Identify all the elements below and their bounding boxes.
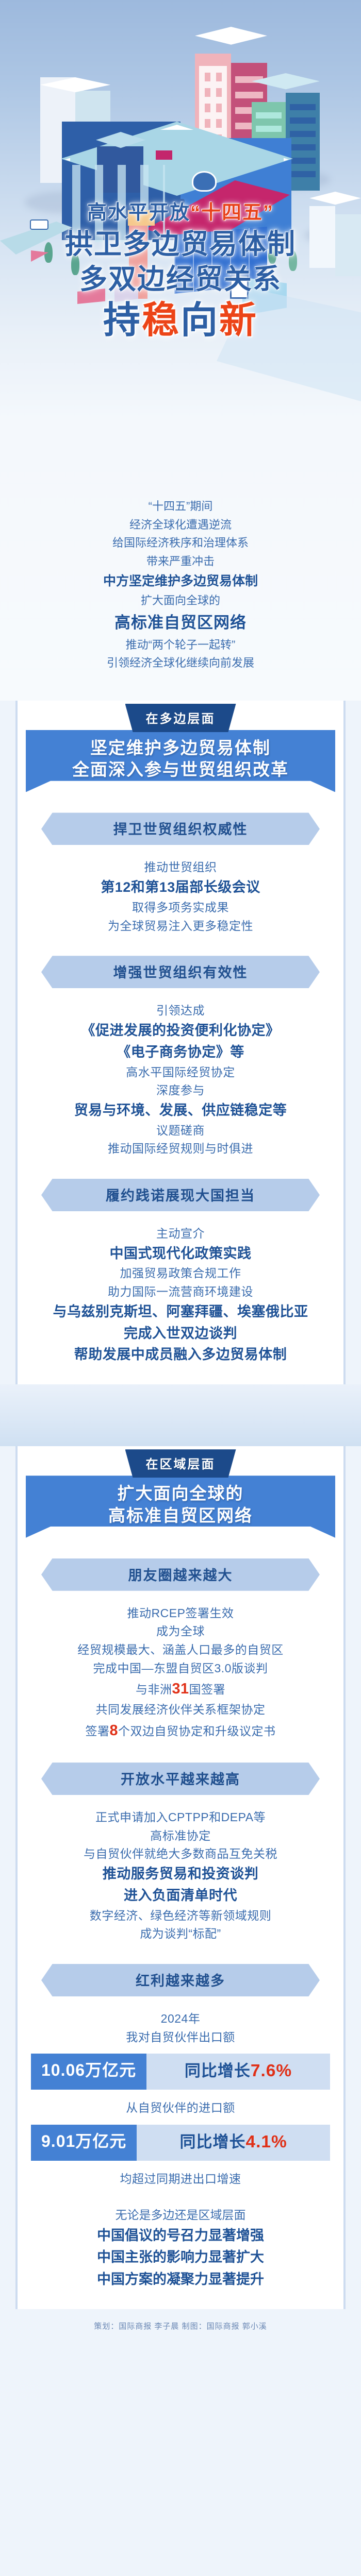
- title-char-0: 持: [103, 300, 142, 341]
- body-line: 《促进发展的投资便利化协定》: [18, 1020, 343, 1042]
- subsection-body: 正式申请加入CPTPP和DEPA等高标准协定与自贸伙伴就绝大多数商品互免关税推动…: [18, 1808, 343, 1943]
- section-tab-label: 在多边层面: [125, 704, 236, 732]
- subsection-body: 主动宣介中国式现代化政策实践加强贸易政策合规工作助力国际一流营商环境建设与乌兹别…: [18, 1225, 343, 1366]
- intro-line: 引领经济全球化继续向前发展: [0, 654, 361, 672]
- stat-compare-label: 同比增长: [185, 2062, 251, 2080]
- stat-value: 10.06万亿元: [31, 2054, 146, 2090]
- body-line: 取得多项务实成果: [18, 899, 343, 917]
- intro-line: 给国际经济秩序和治理体系: [0, 534, 361, 552]
- stat-compare-percent: 4.1%: [246, 2132, 287, 2151]
- body-line: 议题磋商: [18, 1122, 343, 1140]
- subsection-heading: 增强世贸组织有效性: [41, 956, 320, 988]
- body-line: 正式申请加入CPTPP和DEPA等: [18, 1808, 343, 1827]
- subsection-body: 2024年我对自贸伙伴出口额10.06万亿元同比增长7.6%从自贸伙伴的进口额9…: [18, 2010, 343, 2188]
- body-line: 完成中国—东盟自贸区3.0版谈判: [18, 1659, 343, 1678]
- body-line: 高水平国际经贸协定: [18, 1063, 343, 1082]
- section-banner-line: 坚定维护多边贸易体制: [31, 737, 330, 759]
- highlight-number: 8: [110, 1722, 119, 1739]
- body-line: 主动宣介: [18, 1225, 343, 1243]
- body-line: 贸易与环境、发展、供应链稳定等: [18, 1100, 343, 1122]
- closing-line: 中国方案的凝聚力显著提升: [18, 2268, 343, 2291]
- highlight-number: 31: [172, 1681, 189, 1697]
- subsection-heading: 捍卫世贸组织权威性: [41, 812, 320, 845]
- section-tab-label: 在区域层面: [125, 1449, 236, 1478]
- intro-line: 高标准自贸区网络: [0, 610, 361, 636]
- body-line: 与自贸伙伴就绝大多数商品互免关税: [18, 1845, 343, 1863]
- section-gap: [0, 1384, 361, 1446]
- body-line: 为全球贸易注入更多稳定性: [18, 917, 343, 936]
- body-line: 签署8个双边自贸协定和升级议定书: [18, 1719, 343, 1742]
- title-line-2: 拱卫多边贸易体制: [0, 228, 361, 261]
- closing-line: 中国倡议的号召力显著增强: [18, 2225, 343, 2247]
- subsection-heading: 红利越来越多: [41, 1964, 320, 1996]
- title-char-1: 稳: [142, 300, 180, 341]
- title-char-3: 新: [219, 300, 258, 341]
- subsection-heading: 朋友圈越来越大: [41, 1558, 320, 1591]
- body-line: 推动世贸组织: [18, 858, 343, 877]
- intro-line: 扩大面向全球的: [0, 591, 361, 610]
- body-line: 均超过同期进出口增速: [18, 2170, 343, 2189]
- body-line: 推动服务贸易和投资谈判: [18, 1863, 343, 1885]
- intro-line: 推动“两个轮子一起转”: [0, 636, 361, 654]
- body-line: 深度参与: [18, 1081, 343, 1100]
- intro-line: 中方坚定维护多边贸易体制: [0, 571, 361, 592]
- body-line: 引领达成: [18, 1002, 343, 1020]
- closing-line: 中国主张的影响力显著扩大: [18, 2246, 343, 2268]
- subsection-body: 引领达成《促进发展的投资便利化协定》《电子商务协定》等高水平国际经贸协定深度参与…: [18, 1002, 343, 1158]
- body-line: 与乌兹别克斯坦、阿塞拜疆、埃塞俄比亚: [18, 1301, 343, 1323]
- body-line: 高标准协定: [18, 1827, 343, 1845]
- section-1: 在多边层面坚定维护多边贸易体制全面深入参与世贸组织改革捍卫世贸组织权威性推动世贸…: [15, 701, 346, 1384]
- sections-container: 在多边层面坚定维护多边贸易体制全面深入参与世贸组织改革捍卫世贸组织权威性推动世贸…: [0, 701, 361, 2309]
- body-text-fragment: 个双边自贸协定和升级议定书: [118, 1724, 276, 1738]
- section-banner-line: 全面深入参与世贸组织改革: [31, 759, 330, 781]
- hero-title-group: 高水平开放“十四五” 拱卫多边贸易体制 多双边经贸关系 持稳向新: [0, 201, 361, 342]
- body-line: 加强贸易政策合规工作: [18, 1264, 343, 1283]
- body-line: 推动RCEP签署生效: [18, 1604, 343, 1623]
- stat-value: 9.01万亿元: [31, 2125, 137, 2161]
- stat-comparison: 同比增长7.6%: [146, 2054, 330, 2090]
- subsection-heading: 开放水平越来越高: [41, 1762, 320, 1795]
- body-line: 数字经济、绿色经济等新领域规则: [18, 1907, 343, 1925]
- intro-line: 经济全球化遭遇逆流: [0, 516, 361, 534]
- closing-line: 无论是多边还是区域层面: [18, 2206, 343, 2224]
- body-line: 帮助发展中成员融入多边贸易体制: [18, 1344, 343, 1366]
- title-line-3: 多双边经贸关系: [0, 263, 361, 296]
- intro-line: 带来严重冲击: [0, 552, 361, 571]
- body-line: 中国式现代化政策实践: [18, 1243, 343, 1265]
- intro-paragraph: “十四五”期间经济全球化遭遇逆流给国际经济秩序和治理体系带来严重冲击中方坚定维护…: [0, 497, 361, 672]
- subsection-heading: 履约践诺展现大国担当: [41, 1179, 320, 1211]
- body-text-fragment: 与非洲: [136, 1683, 172, 1696]
- hero-illustration-area: 高水平开放“十四五” 拱卫多边贸易体制 多双边经贸关系 持稳向新 “十四五”期间…: [0, 0, 361, 701]
- body-line: 《电子商务协定》等: [18, 1042, 343, 1063]
- title-char-2: 向: [180, 300, 219, 341]
- stat-compare-percent: 7.6%: [251, 2061, 292, 2080]
- body-line: 2024年: [18, 2010, 343, 2028]
- body-line: 进入负面清单时代: [18, 1885, 343, 1907]
- body-line: 经贸规模最大、涵盖人口最多的自贸区: [18, 1641, 343, 1659]
- section-banner-title: 坚定维护多边贸易体制全面深入参与世贸组织改革: [26, 730, 335, 792]
- section-banner-line: 扩大面向全球的: [31, 1483, 330, 1504]
- section-banner: 在区域层面扩大面向全球的高标准自贸区网络: [0, 1446, 361, 1537]
- stat-comparison: 同比增长4.1%: [137, 2125, 330, 2161]
- body-line: 我对自贸伙伴出口额: [18, 2028, 343, 2047]
- subsection-body: 推动RCEP签署生效成为全球经贸规模最大、涵盖人口最多的自贸区完成中国—东盟自贸…: [18, 1604, 343, 1742]
- body-line: 推动国际经贸规则与时俱进: [18, 1140, 343, 1158]
- section-2: 在区域层面扩大面向全球的高标准自贸区网络朋友圈越来越大推动RCEP签署生效成为全…: [15, 1446, 346, 2309]
- title-line-4: 持稳向新: [0, 299, 361, 342]
- title-line-1: 高水平开放“十四五”: [0, 201, 361, 226]
- body-line: 助力国际一流营商环境建设: [18, 1283, 343, 1301]
- body-text-fragment: 国签署: [189, 1683, 225, 1696]
- body-text-fragment: 签署: [86, 1724, 110, 1738]
- stat-row: 9.01万亿元同比增长4.1%: [31, 2125, 330, 2161]
- stat-compare-label: 同比增长: [180, 2133, 246, 2151]
- body-line: 成为谈判“标配”: [18, 1925, 343, 1943]
- body-line: 从自贸伙伴的进口额: [18, 2099, 343, 2117]
- section-banner: 在多边层面坚定维护多边贸易体制全面深入参与世贸组织改革: [0, 701, 361, 792]
- body-line: 成为全球: [18, 1622, 343, 1641]
- subsection-body: 推动世贸组织第12和第13届部长级会议取得多项务实成果为全球贸易注入更多稳定性: [18, 858, 343, 935]
- title-line-1-quoted: “十四五”: [190, 202, 274, 224]
- footer-credits: 策划：国际商报 李子晨 制图：国际商报 郭小溪: [0, 2309, 361, 2347]
- section-banner-line: 高标准自贸区网络: [31, 1505, 330, 1527]
- title-line-1-pre: 高水平开放: [87, 202, 190, 224]
- body-line: 第12和第13届部长级会议: [18, 877, 343, 899]
- section-banner-title: 扩大面向全球的高标准自贸区网络: [26, 1476, 335, 1537]
- stat-row: 10.06万亿元同比增长7.6%: [31, 2054, 330, 2090]
- body-line: 与非洲31国签署: [18, 1677, 343, 1701]
- body-line: 完成入世双边谈判: [18, 1323, 343, 1345]
- body-line: 共同发展经济伙伴关系框架协定: [18, 1701, 343, 1719]
- section-closing: 无论是多边还是区域层面中国倡议的号召力显著增强中国主张的影响力显著扩大中国方案的…: [18, 2206, 343, 2290]
- intro-line: “十四五”期间: [0, 497, 361, 516]
